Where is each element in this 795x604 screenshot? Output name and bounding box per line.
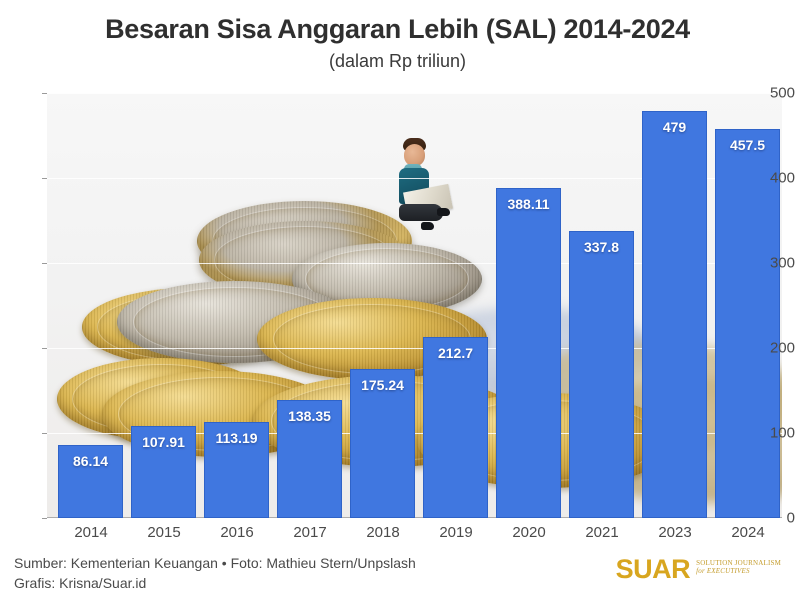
x-axis-tick-2019: 2019 [439, 524, 472, 541]
suar-logo: SUAR SOLUTION JOURNALISM for EXECUTIVES [616, 556, 781, 583]
x-axis-tick-2015: 2015 [147, 524, 180, 541]
x-axis-tick-2014: 2014 [74, 524, 107, 541]
y-axis-tick-100: 100 [757, 425, 795, 442]
figurine-reading-newspaper [377, 138, 497, 268]
y-tick-mark [42, 348, 47, 349]
bar-2023[interactable]: 479 [642, 111, 707, 518]
x-axis-tick-2017: 2017 [293, 524, 326, 541]
bar-2014[interactable]: 86.14 [58, 445, 123, 518]
infographic-root: Besaran Sisa Anggaran Lebih (SAL) 2014-2… [0, 0, 795, 604]
logo-tagline-line2: for EXECUTIVES [696, 567, 781, 575]
y-tick-mark [42, 263, 47, 264]
x-axis-tick-2023: 2023 [658, 524, 691, 541]
gridline-500 [47, 93, 782, 94]
footer-credits: Sumber: Kementerian Keuangan • Foto: Mat… [14, 553, 574, 594]
bar-2016[interactable]: 113.19 [204, 422, 269, 518]
y-tick-mark [42, 93, 47, 94]
y-tick-mark [42, 518, 47, 519]
y-axis-tick-500: 500 [757, 85, 795, 102]
page-title: Besaran Sisa Anggaran Lebih (SAL) 2014-2… [0, 0, 795, 45]
bar-2015[interactable]: 107.91 [131, 426, 196, 518]
plot-area: 86.14 107.91 113.19 138.35 175.24 212.7 … [47, 93, 782, 518]
bar-2020[interactable]: 388.11 [496, 188, 561, 518]
bar-value-label: 175.24 [361, 377, 404, 393]
bar-value-label: 388.11 [507, 196, 549, 212]
logo-wordmark: SUAR [616, 556, 691, 583]
y-axis-tick-300: 300 [757, 255, 795, 272]
source-line: Sumber: Kementerian Keuangan • Foto: Mat… [14, 553, 574, 573]
y-axis-tick-400: 400 [757, 170, 795, 187]
bar-value-label: 86.14 [73, 453, 108, 469]
bar-value-label: 107.91 [142, 434, 185, 450]
y-tick-mark [42, 178, 47, 179]
x-axis-tick-2016: 2016 [220, 524, 253, 541]
y-axis-tick-200: 200 [757, 340, 795, 357]
logo-tagline-line1: SOLUTION JOURNALISM [696, 559, 781, 567]
chart-subtitle: (dalam Rp triliun) [0, 45, 795, 72]
chart-header: Besaran Sisa Anggaran Lebih (SAL) 2014-2… [0, 0, 795, 72]
bar-2019[interactable]: 212.7 [423, 337, 488, 518]
bar-value-label: 337.8 [584, 239, 619, 255]
bar-2024[interactable]: 457.5 [715, 129, 780, 518]
bar-2017[interactable]: 138.35 [277, 400, 342, 518]
y-tick-mark [42, 433, 47, 434]
bar-value-label: 113.19 [215, 430, 257, 446]
logo-tagline: SOLUTION JOURNALISM for EXECUTIVES [696, 556, 781, 576]
bar-value-label: 138.35 [288, 408, 331, 424]
x-axis-tick-2018: 2018 [366, 524, 399, 541]
x-axis-tick-2021: 2021 [585, 524, 618, 541]
x-axis-tick-2020: 2020 [512, 524, 545, 541]
bar-2021[interactable]: 337.8 [569, 231, 634, 518]
x-axis-tick-2024: 2024 [731, 524, 764, 541]
bar-2018[interactable]: 175.24 [350, 369, 415, 518]
bar-value-label: 457.5 [730, 137, 765, 153]
graphics-credit-line: Grafis: Krisna/Suar.id [14, 573, 574, 593]
bar-value-label: 479 [663, 119, 686, 135]
bar-value-label: 212.7 [438, 345, 473, 361]
